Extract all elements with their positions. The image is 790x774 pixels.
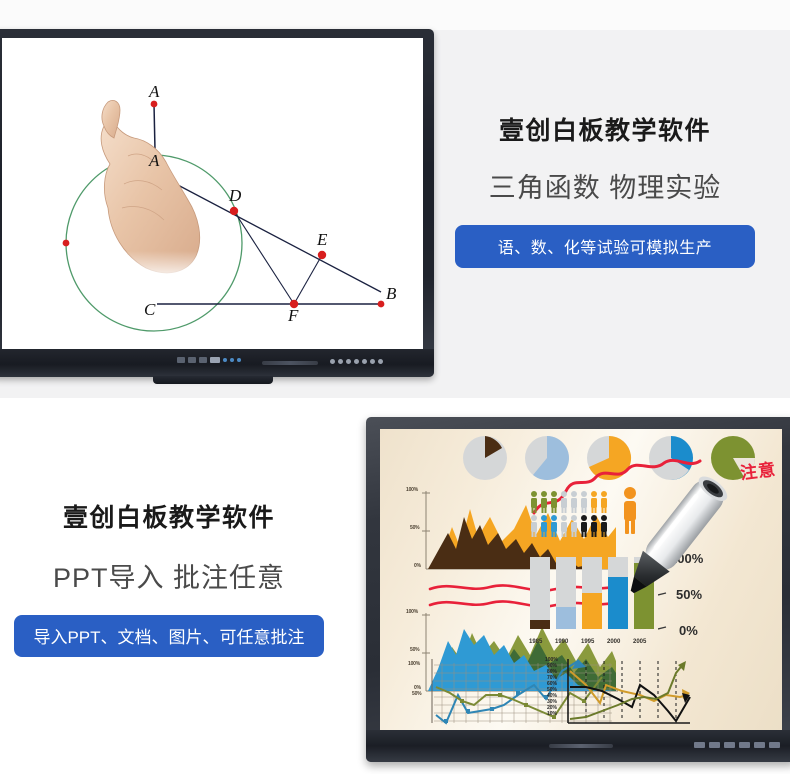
indicator-led bbox=[223, 358, 227, 362]
monitor-bottom-bezel bbox=[366, 730, 790, 762]
port-slot bbox=[724, 742, 735, 748]
geo-label-B: B bbox=[386, 284, 396, 304]
device-control-buttons[interactable] bbox=[177, 357, 241, 363]
geo-label-C: C bbox=[144, 300, 155, 320]
top-text-block: 壹创白板教学软件 三角函数 物理实验 语、数、化等试验可模拟生产 bbox=[455, 118, 755, 268]
stylus-pen[interactable] bbox=[621, 464, 731, 609]
device-port-row bbox=[694, 742, 780, 748]
y-tick-0-chart1: 0% bbox=[414, 563, 421, 569]
port-dot bbox=[346, 359, 351, 364]
bar-xtick-2000: 2000 bbox=[607, 639, 620, 645]
bottom-feature-badge: 导入PPT、文档、图片、可任意批注 bbox=[14, 615, 324, 657]
port-dot bbox=[338, 359, 343, 364]
device-port-row bbox=[330, 359, 383, 364]
bar-xtick-1990: 1990 bbox=[555, 639, 568, 645]
bottom-title: 壹创白板教学软件 bbox=[14, 498, 324, 534]
port-dot bbox=[378, 359, 383, 364]
right-ytick-10: 10% bbox=[547, 711, 557, 717]
geo-label-A-top: A bbox=[149, 82, 159, 102]
port-slot bbox=[739, 742, 750, 748]
bar-xtick-1985: 1985 bbox=[529, 639, 542, 645]
port-dot bbox=[330, 359, 335, 364]
geometry-diagram: A A D E B F C bbox=[2, 38, 423, 349]
indicator-led bbox=[237, 358, 241, 362]
geo-label-F: F bbox=[288, 306, 298, 326]
y-tick-100-chart2: 100% bbox=[406, 609, 418, 615]
control-button-active[interactable] bbox=[210, 357, 220, 363]
geo-label-E: E bbox=[317, 230, 327, 250]
section-top: A A D E B F C bbox=[0, 0, 790, 398]
bottom-text-block: 壹创白板教学软件 PPT导入 批注任意 导入PPT、文档、图片、可任意批注 bbox=[14, 498, 324, 657]
annotation-text: 注意 bbox=[739, 455, 778, 484]
top-white-strip bbox=[0, 0, 790, 30]
port-slot bbox=[709, 742, 720, 748]
grid-ytick-100: 100% bbox=[408, 661, 420, 667]
bar-xtick-1995: 1995 bbox=[581, 639, 594, 645]
indicator-led bbox=[230, 358, 234, 362]
control-button[interactable] bbox=[177, 357, 185, 363]
bottom-subtitle: PPT导入 批注任意 bbox=[14, 556, 324, 595]
top-title: 壹创白板教学软件 bbox=[455, 118, 755, 146]
port-dot bbox=[362, 359, 367, 364]
port-slot bbox=[769, 742, 780, 748]
pie-chart-1 bbox=[462, 435, 508, 481]
brand-logo bbox=[262, 361, 318, 365]
port-dot bbox=[370, 359, 375, 364]
section-bottom: 壹创白板教学软件 PPT导入 批注任意 导入PPT、文档、图片、可任意批注 bbox=[0, 398, 790, 774]
y-tick-50-chart1: 50% bbox=[410, 525, 419, 531]
top-feature-badge: 语、数、化等试验可模拟生产 bbox=[455, 225, 755, 268]
product-promo-page: A A D E B F C bbox=[0, 0, 790, 774]
top-subtitle: 三角函数 物理实验 bbox=[455, 166, 755, 205]
hand-pointing-illustration bbox=[84, 96, 219, 281]
port-slot bbox=[694, 742, 705, 748]
y-tick-50-chart2: 50% bbox=[410, 647, 419, 653]
bar-xtick-2005: 2005 bbox=[633, 639, 646, 645]
brand-logo bbox=[549, 744, 613, 748]
geo-label-D: D bbox=[229, 186, 241, 206]
grid-ytick-50: 50% bbox=[412, 691, 421, 697]
monitor-bottom-bezel bbox=[0, 349, 434, 377]
control-button[interactable] bbox=[188, 357, 196, 363]
port-slot bbox=[754, 742, 765, 748]
port-dot bbox=[354, 359, 359, 364]
whiteboard-device-bottom: 注意 100% 50% 0% bbox=[366, 417, 790, 762]
geo-label-A-circle: A bbox=[149, 151, 159, 171]
control-button[interactable] bbox=[199, 357, 207, 363]
line-chart-dashed bbox=[544, 657, 692, 729]
monitor-stand bbox=[153, 376, 273, 384]
y-tick-100-chart1: 100% bbox=[406, 487, 418, 493]
whiteboard-device-top: A A D E B F C bbox=[0, 29, 434, 377]
monitor-screen-charts[interactable]: 注意 100% 50% 0% bbox=[380, 429, 782, 730]
bar-ytick-0: 0% bbox=[679, 623, 698, 638]
monitor-screen-geometry[interactable]: A A D E B F C bbox=[2, 38, 423, 349]
charts-dashboard: 注意 100% 50% 0% bbox=[380, 429, 782, 730]
